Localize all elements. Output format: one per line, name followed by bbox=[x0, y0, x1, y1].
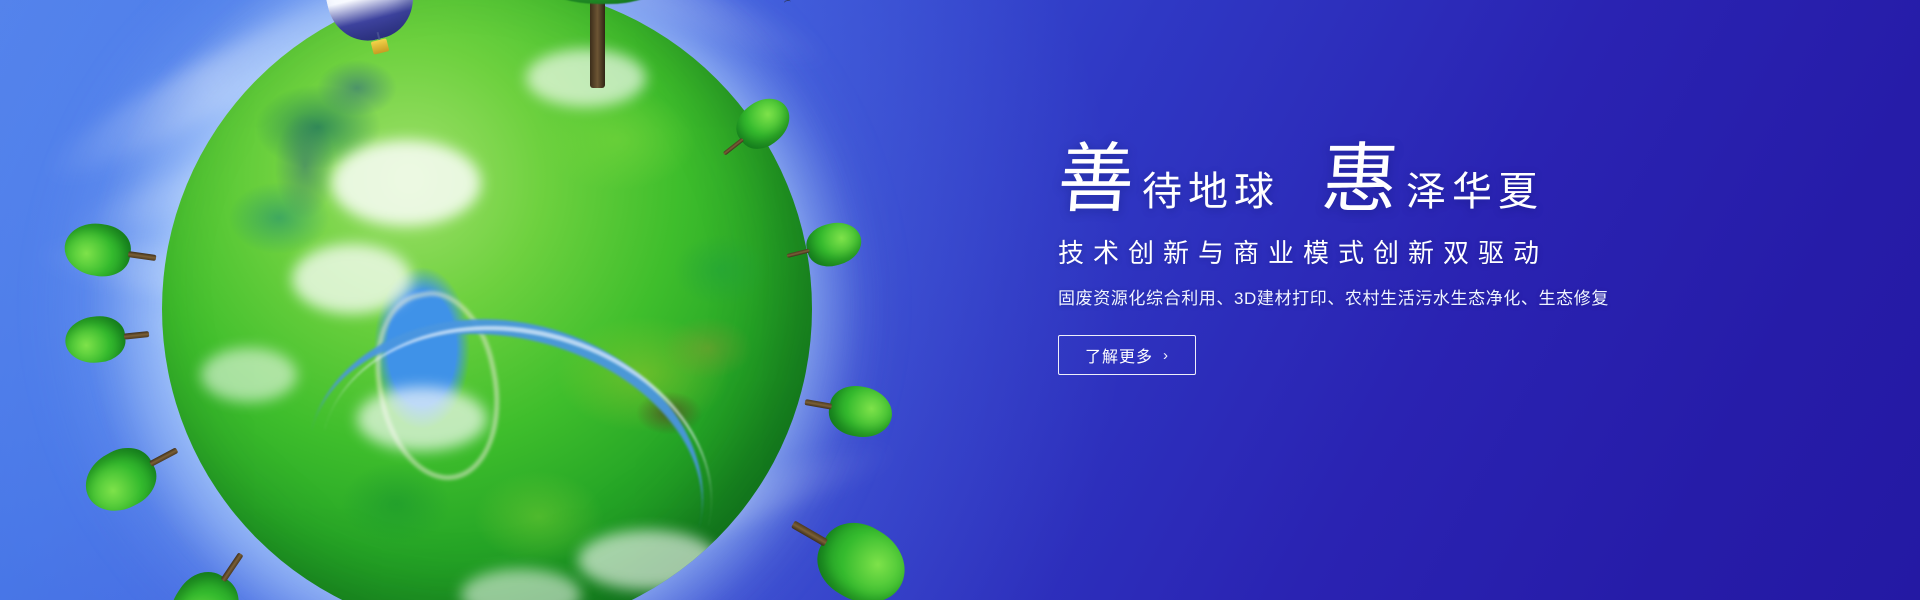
hero-banner: 善 待地球 惠 泽华夏 技术创新与商业模式创新双驱动 固废资源化综合利用、3D建… bbox=[0, 0, 1920, 600]
globe-sphere bbox=[162, 0, 812, 600]
cloud-icon bbox=[331, 140, 481, 226]
globe-artwork bbox=[90, 0, 880, 600]
chevron-right-icon: › bbox=[1163, 348, 1169, 363]
large-tree-icon bbox=[502, 0, 692, 74]
cloud-icon bbox=[292, 244, 412, 314]
cloud-icon bbox=[578, 530, 718, 590]
banner-subtitle: 技术创新与商业模式创新双驱动 bbox=[1058, 240, 1758, 266]
headline-part2-large: 惠 bbox=[1319, 142, 1400, 218]
cloud-icon bbox=[201, 348, 297, 402]
hot-air-balloon-icon bbox=[326, 0, 412, 60]
tree-icon bbox=[63, 311, 151, 366]
headline-part1-large: 善 bbox=[1055, 142, 1136, 218]
headline-part2-small: 泽华夏 bbox=[1398, 172, 1544, 218]
learn-more-button[interactable]: 了解更多 › bbox=[1058, 335, 1196, 375]
page-title: 善 待地球 惠 泽华夏 bbox=[1058, 132, 1758, 218]
headline-part1-small: 待地球 bbox=[1134, 172, 1280, 218]
banner-content: 善 待地球 惠 泽华夏 技术创新与商业模式创新双驱动 固废资源化综合利用、3D建… bbox=[1058, 132, 1758, 375]
learn-more-label: 了解更多 bbox=[1085, 343, 1153, 367]
bird-flock-icon bbox=[686, 0, 806, 10]
banner-description: 固废资源化综合利用、3D建材打印、农村生活污水生态净化、生态修复 bbox=[1058, 290, 1758, 307]
cloud-icon bbox=[357, 387, 487, 451]
